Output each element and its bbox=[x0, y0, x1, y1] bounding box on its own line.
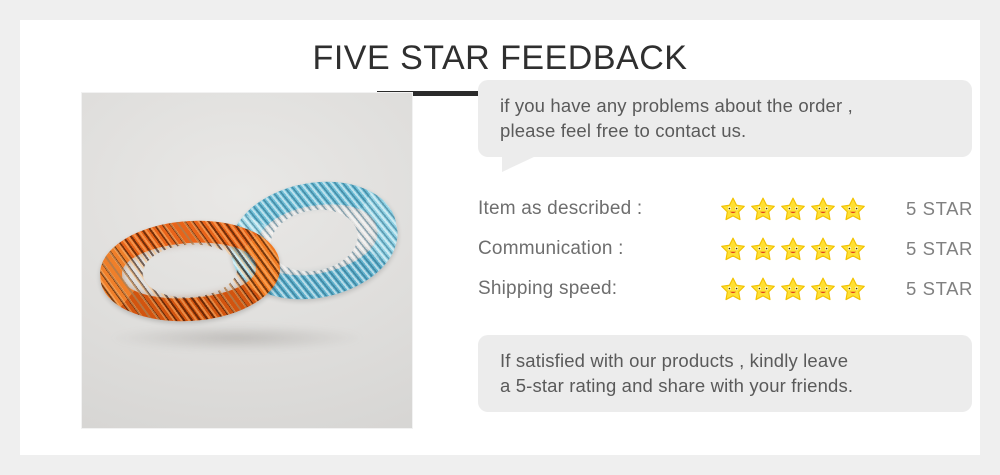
rating-row: Item as described : 5 STAR bbox=[478, 189, 972, 229]
star-icon bbox=[840, 236, 866, 262]
star-rating-communication bbox=[720, 236, 888, 262]
star-icon bbox=[810, 276, 836, 302]
star-icon bbox=[810, 236, 836, 262]
star-icon bbox=[750, 196, 776, 222]
contact-message-bubble: if you have any problems about the order… bbox=[478, 80, 972, 157]
rating-row: Shipping speed: 5 STAR bbox=[478, 269, 972, 309]
content-canvas: FIVE STAR FEEDBACK if you have any probl… bbox=[20, 20, 980, 455]
rating-label-item-as-described: Item as described : bbox=[478, 198, 720, 220]
orange-speckled-lace bbox=[97, 215, 284, 327]
product-shadow bbox=[112, 325, 362, 351]
star-icon bbox=[750, 236, 776, 262]
product-image bbox=[82, 93, 412, 428]
rating-row: Communication : 5 STAR bbox=[478, 229, 972, 269]
star-icon bbox=[720, 196, 746, 222]
feedback-banner: FIVE STAR FEEDBACK if you have any probl… bbox=[0, 0, 1000, 475]
star-icon bbox=[780, 236, 806, 262]
review-request-line-1: If satisfied with our products , kindly … bbox=[500, 348, 954, 373]
rating-label-shipping-speed: Shipping speed: bbox=[478, 278, 720, 300]
star-icon bbox=[840, 196, 866, 222]
contact-message-line-1: if you have any problems about the order… bbox=[500, 93, 954, 118]
review-request-line-2: a 5-star rating and share with your frie… bbox=[500, 373, 954, 398]
star-icon bbox=[810, 196, 836, 222]
star-icon bbox=[840, 276, 866, 302]
feedback-panel: if you have any problems about the order… bbox=[478, 80, 972, 412]
rating-value-shipping-speed: 5 STAR bbox=[906, 278, 973, 300]
star-icon bbox=[720, 276, 746, 302]
orange-lace-coil bbox=[97, 215, 284, 327]
contact-message-line-2: please feel free to contact us. bbox=[500, 118, 954, 143]
star-rating-shipping-speed bbox=[720, 276, 888, 302]
page-title: FIVE STAR FEEDBACK bbox=[20, 20, 980, 82]
rating-label-communication: Communication : bbox=[478, 238, 720, 260]
star-icon bbox=[780, 196, 806, 222]
ratings-list: Item as described : 5 STAR Communication… bbox=[478, 189, 972, 309]
review-request-bubble: If satisfied with our products , kindly … bbox=[478, 335, 972, 412]
rating-value-communication: 5 STAR bbox=[906, 238, 973, 260]
star-icon bbox=[750, 276, 776, 302]
star-rating-item-as-described bbox=[720, 196, 888, 222]
star-icon bbox=[720, 236, 746, 262]
star-icon bbox=[780, 276, 806, 302]
rating-value-item-as-described: 5 STAR bbox=[906, 198, 973, 220]
